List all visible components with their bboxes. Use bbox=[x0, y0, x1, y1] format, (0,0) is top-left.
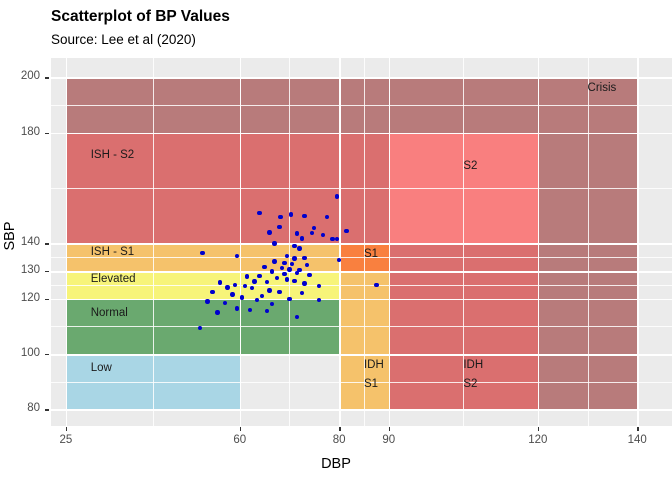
plot-panel: ISH - S2ISH - S1ElevatedNormalLowCrisisS… bbox=[51, 58, 672, 426]
region-label: S1 bbox=[364, 247, 378, 261]
data-point bbox=[210, 290, 214, 294]
data-point bbox=[307, 273, 311, 277]
x-axis-title: DBP bbox=[0, 456, 672, 472]
data-point bbox=[292, 279, 296, 283]
gridline-major-vertical bbox=[66, 58, 68, 426]
gridline-minor-vertical bbox=[153, 58, 154, 426]
data-point bbox=[200, 251, 204, 255]
gridline-major-horizontal bbox=[51, 409, 672, 411]
region-label: S2 bbox=[463, 377, 477, 391]
y-tick-mark bbox=[45, 271, 49, 272]
y-tick-label: 180 bbox=[0, 126, 40, 138]
data-point bbox=[310, 231, 314, 235]
data-point bbox=[344, 229, 348, 233]
data-point bbox=[302, 256, 306, 260]
data-point bbox=[277, 225, 281, 229]
data-point bbox=[270, 269, 274, 273]
y-axis-title: SBP bbox=[2, 206, 18, 266]
region-label: Normal bbox=[91, 306, 128, 320]
data-point bbox=[300, 236, 304, 240]
x-tick-label: 90 bbox=[369, 434, 409, 446]
data-point bbox=[374, 283, 378, 287]
x-tick-label: 60 bbox=[220, 434, 260, 446]
data-point bbox=[218, 280, 222, 284]
data-point bbox=[282, 261, 286, 265]
x-tick-label: 120 bbox=[518, 434, 558, 446]
gridline-major-horizontal bbox=[51, 133, 672, 135]
data-point bbox=[252, 279, 256, 283]
data-point bbox=[248, 308, 252, 312]
data-point bbox=[292, 244, 296, 248]
region-label: ISH - S2 bbox=[91, 148, 134, 162]
data-point bbox=[262, 265, 266, 269]
data-point bbox=[205, 299, 209, 303]
data-point bbox=[285, 277, 289, 281]
gridline-major-horizontal bbox=[51, 354, 672, 356]
region-label: Crisis bbox=[588, 81, 617, 95]
gridline-minor-horizontal bbox=[51, 285, 672, 286]
x-tick-mark bbox=[389, 427, 390, 431]
data-point bbox=[292, 256, 296, 260]
y-tick-label: 200 bbox=[0, 70, 40, 82]
region-label: ISH - S1 bbox=[91, 245, 134, 259]
gridline-major-vertical bbox=[339, 58, 341, 426]
data-point bbox=[295, 315, 299, 319]
gridline-minor-vertical bbox=[289, 58, 290, 426]
data-point bbox=[302, 214, 306, 218]
data-point bbox=[277, 290, 281, 294]
x-tick-mark bbox=[637, 427, 638, 431]
data-point bbox=[272, 259, 276, 263]
x-tick-label: 25 bbox=[46, 434, 86, 446]
data-point bbox=[240, 295, 244, 299]
data-point bbox=[230, 292, 234, 296]
x-tick-mark bbox=[339, 427, 340, 431]
x-tick-label: 80 bbox=[319, 434, 359, 446]
data-point bbox=[267, 230, 271, 234]
x-tick-label: 140 bbox=[617, 434, 657, 446]
x-tick-mark bbox=[240, 427, 241, 431]
chart-subtitle: Source: Lee et al (2020) bbox=[51, 32, 196, 47]
region-label: Low bbox=[91, 361, 112, 375]
gridline-major-vertical bbox=[240, 58, 242, 426]
region-label: S1 bbox=[364, 377, 378, 391]
gridline-minor-horizontal bbox=[51, 257, 672, 258]
x-tick-mark bbox=[538, 427, 539, 431]
data-point bbox=[267, 288, 271, 292]
data-point bbox=[223, 301, 227, 305]
gridline-major-horizontal bbox=[51, 299, 672, 301]
x-tick-mark bbox=[66, 427, 67, 431]
chart-title: Scatterplot of BP Values bbox=[51, 8, 230, 26]
data-point bbox=[233, 283, 237, 287]
data-point bbox=[272, 241, 276, 245]
y-tick-label: 100 bbox=[0, 347, 40, 359]
y-tick-mark bbox=[45, 354, 49, 355]
data-point bbox=[287, 267, 291, 271]
data-point bbox=[335, 194, 339, 198]
y-tick-mark bbox=[45, 299, 49, 300]
data-point bbox=[295, 231, 299, 235]
data-point bbox=[289, 212, 293, 216]
gridline-major-vertical bbox=[637, 58, 639, 426]
gridline-minor-horizontal bbox=[51, 105, 672, 106]
gridline-minor-horizontal bbox=[51, 326, 672, 327]
scatterplot-chart: Scatterplot of BP Values Source: Lee et … bbox=[0, 0, 672, 480]
region-label: S2 bbox=[463, 159, 477, 173]
gridline-major-horizontal bbox=[51, 77, 672, 79]
y-tick-mark bbox=[45, 133, 49, 134]
gridline-minor-horizontal bbox=[51, 188, 672, 189]
gridline-minor-vertical bbox=[588, 58, 589, 426]
data-point bbox=[282, 272, 286, 276]
region-label: Elevated bbox=[91, 272, 136, 286]
y-tick-label: 80 bbox=[0, 402, 40, 414]
data-point bbox=[257, 211, 261, 215]
gridline-major-vertical bbox=[538, 58, 540, 426]
data-point bbox=[297, 246, 301, 250]
gridline-major-horizontal bbox=[51, 271, 672, 273]
data-point bbox=[278, 215, 282, 219]
region-label: IDH bbox=[364, 358, 384, 372]
y-tick-mark bbox=[45, 409, 49, 410]
y-tick-mark bbox=[45, 77, 49, 78]
gridline-minor-horizontal bbox=[51, 382, 672, 383]
data-point bbox=[302, 281, 306, 285]
gridline-major-horizontal bbox=[51, 243, 672, 245]
gridline-major-vertical bbox=[389, 58, 391, 426]
data-point bbox=[257, 274, 261, 278]
y-tick-mark bbox=[45, 243, 49, 244]
data-point bbox=[225, 285, 229, 289]
region-label: IDH bbox=[463, 358, 483, 372]
y-tick-label: 120 bbox=[0, 292, 40, 304]
data-point bbox=[215, 310, 219, 314]
